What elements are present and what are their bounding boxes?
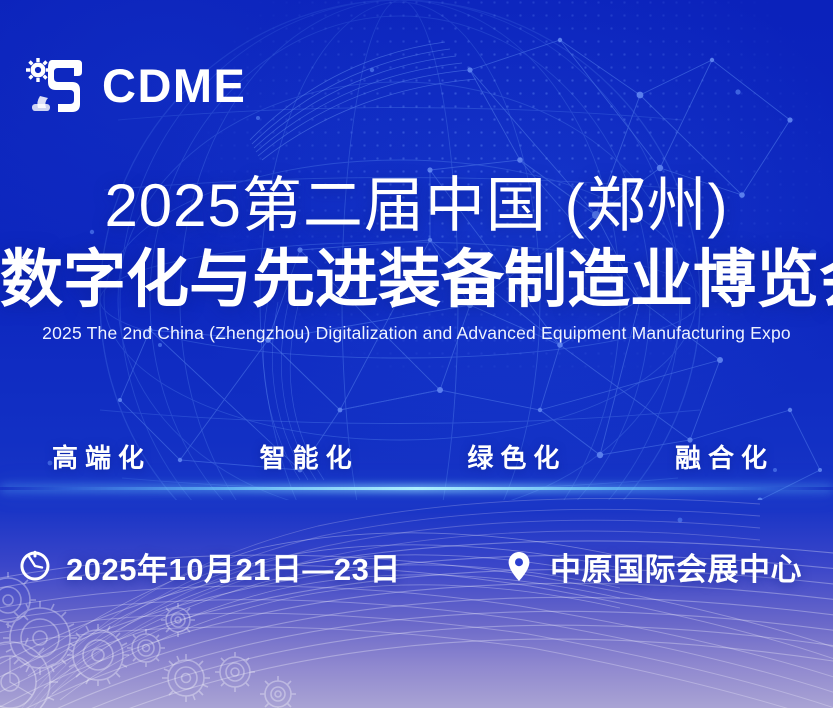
- logo-text: CDME: [102, 62, 246, 109]
- gear-robotic-arm-s-icon: [22, 52, 86, 118]
- event-date: 2025年10月21日—23日: [18, 538, 401, 594]
- keyword-item-1: 高端化: [52, 438, 158, 475]
- keyword-item-3: 绿色化: [467, 438, 573, 475]
- clock-icon: [18, 549, 52, 583]
- event-venue: 中原国际会展中心: [502, 538, 802, 594]
- brand-logo: CDME: [22, 52, 246, 118]
- map-pin-icon: [502, 549, 536, 583]
- event-date-text: 2025年10月21日—23日: [66, 544, 401, 589]
- info-row: 2025年10月21日—23日 中原国际会展中心: [12, 538, 821, 594]
- title-line-1: 2025第二届中国 (郑州): [0, 170, 833, 242]
- event-venue-text: 中原国际会展中心: [550, 544, 802, 589]
- keyword-item-2: 智能化: [260, 438, 366, 475]
- keyword-item-4: 融合化: [675, 438, 781, 475]
- title-english: 2025 The 2nd China (Zhengzhou) Digitaliz…: [0, 320, 833, 346]
- expo-banner: CDME 2025第二届中国 (郑州) 数字化与先进装备制造业博览会 2025 …: [0, 0, 833, 708]
- keyword-row: 高端化 智能化 绿色化 融合化: [52, 438, 781, 475]
- title-block: 2025第二届中国 (郑州) 数字化与先进装备制造业博览会 2025 The 2…: [0, 170, 833, 346]
- title-line-2: 数字化与先进装备制造业博览会: [0, 242, 833, 318]
